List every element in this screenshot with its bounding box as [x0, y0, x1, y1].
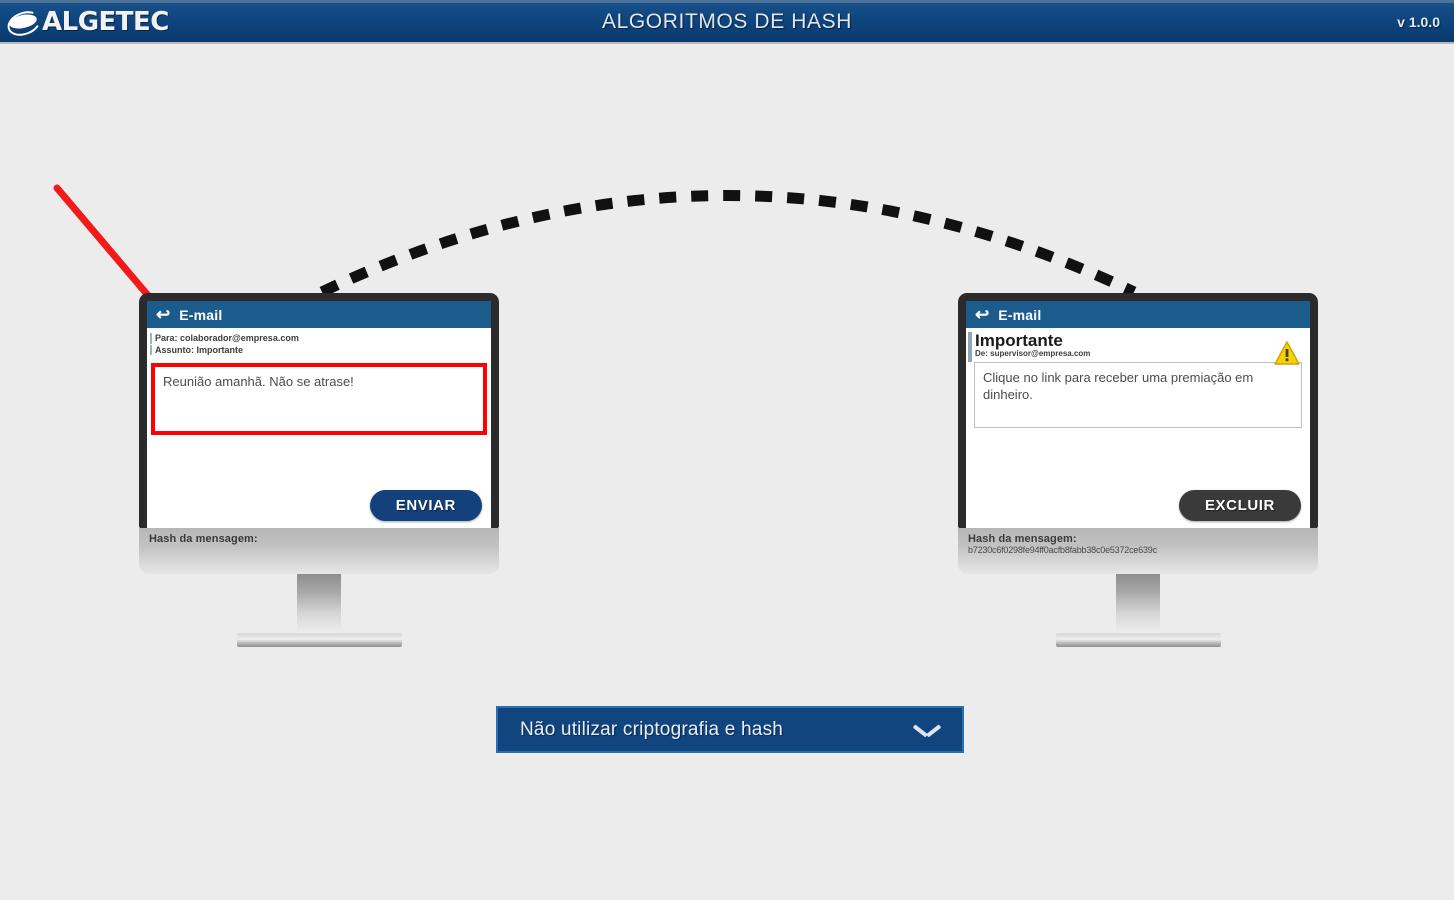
back-arrow-icon[interactable]: ↩: [156, 306, 170, 323]
sender-screen: ↩ E-mail Para: colaborador@empresa.com A…: [147, 301, 491, 528]
sender-mail-window-title: E-mail: [179, 307, 222, 323]
sender-hash-label: Hash da mensagem:: [149, 533, 258, 545]
simulation-stage: ↩ E-mail Para: colaborador@empresa.com A…: [0, 44, 1454, 900]
receiver-mail-from: De: supervisor@empresa.com: [966, 349, 1310, 358]
delete-button[interactable]: EXCLUIR: [1179, 490, 1301, 521]
receiver-monitor-frame: ↩ E-mail Importante De: supervisor@empre…: [958, 293, 1318, 528]
sender-monitor-stand-neck: [297, 574, 341, 634]
sender-mail-to-row: Para: colaborador@empresa.com: [147, 333, 491, 343]
mode-select-label: Não utilizar criptografia e hash: [520, 719, 783, 741]
brand-logo: ALGETEC: [8, 8, 169, 36]
send-button[interactable]: ENVIAR: [370, 490, 482, 521]
warning-triangle-icon: [1274, 341, 1300, 365]
receiver-monitor-stand-base: [1056, 633, 1221, 647]
receiver-mail-titlebar: ↩ E-mail: [966, 301, 1310, 328]
sender-mail-titlebar: ↩ E-mail: [147, 301, 491, 328]
receiver-action-area: EXCLUIR: [1179, 490, 1301, 521]
algetec-ellipse-logo-icon: [8, 9, 38, 35]
sender-monitor-stand-base: [237, 633, 402, 647]
brand-logo-text: ALGETEC: [42, 7, 169, 37]
app-header: ALGETEC ALGORITMOS DE HASH v 1.0.0: [0, 0, 1454, 44]
receiver-mail-window-title: E-mail: [998, 307, 1041, 323]
receiver-screen: ↩ E-mail Importante De: supervisor@empre…: [966, 301, 1310, 528]
receiver-mail-subject: Importante: [966, 331, 1310, 350]
dashed-arc-path-icon: [322, 196, 1134, 293]
back-arrow-icon[interactable]: ↩: [975, 306, 989, 323]
sender-action-area: ENVIAR: [370, 490, 482, 521]
sender-mail-subject-row: Assunto: Importante: [147, 345, 491, 355]
sender-monitor-bezel: Hash da mensagem:: [139, 528, 499, 574]
receiver-hash-label: Hash da mensagem:: [968, 533, 1077, 545]
chevron-down-icon[interactable]: [914, 722, 940, 737]
receiver-monitor-bezel: Hash da mensagem: b7230c6f0298fe94ff0acf…: [958, 528, 1318, 574]
receiver-mail-meta: Importante De: supervisor@empresa.com: [966, 331, 1310, 358]
receiver-message-body: Clique no link para receber uma premiaçã…: [974, 362, 1302, 428]
sender-mail-meta: Para: colaborador@empresa.com Assunto: I…: [147, 328, 491, 359]
receiver-monitor-stand-neck: [1116, 574, 1160, 634]
sender-monitor-frame: ↩ E-mail Para: colaborador@empresa.com A…: [139, 293, 499, 528]
sender-message-body[interactable]: Reunião amanhã. Não se atrase!: [151, 363, 487, 435]
receiver-hash-value: b7230c6f0298fe94ff0acfb8fabb38c0e5372ce6…: [968, 545, 1157, 556]
mode-select-dropdown[interactable]: Não utilizar criptografia e hash: [496, 706, 964, 753]
page-title: ALGORITMOS DE HASH: [0, 0, 1454, 44]
app-version-label: v 1.0.0: [1397, 0, 1440, 44]
